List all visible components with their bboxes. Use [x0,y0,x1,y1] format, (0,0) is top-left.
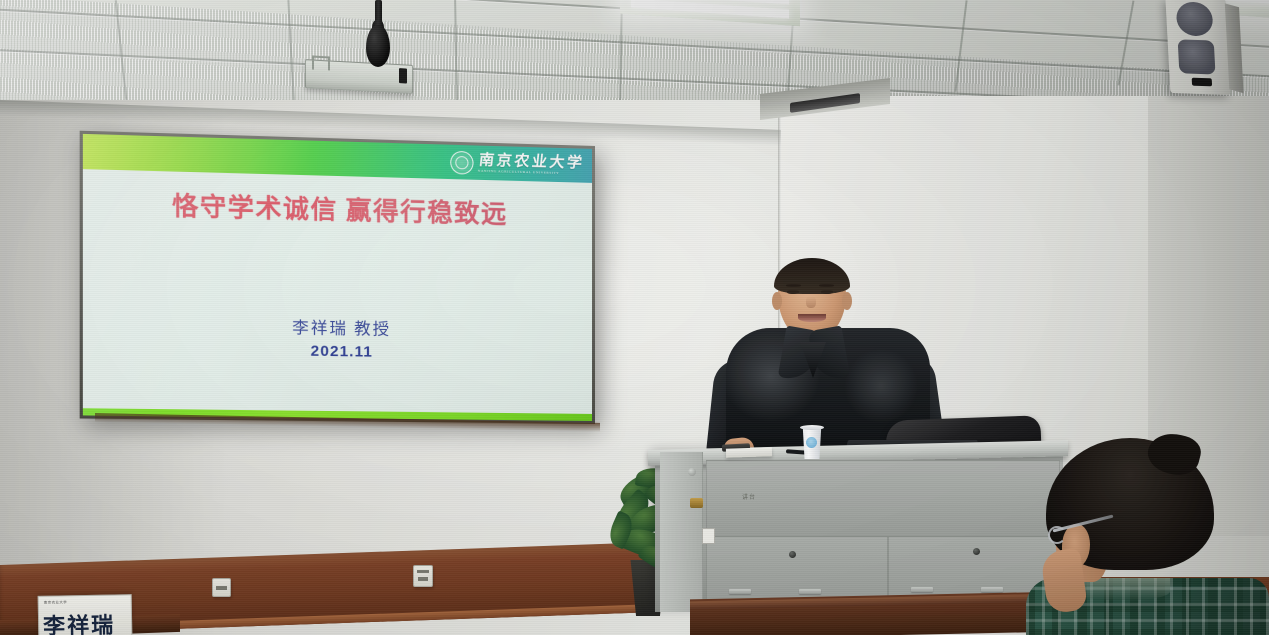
slide-presenter: 李祥瑞 教授 [83,310,592,343]
speaker-eye [787,290,799,294]
speaker-eyebrow [819,284,834,287]
outlet-slot [216,586,227,590]
lectern-latch [688,468,696,476]
wall-outlet-right [413,565,433,587]
speaker-cone-icon [1178,39,1216,74]
hanging-camera-sensor [366,25,390,67]
speaker-eye [821,290,833,294]
drawer-handle [799,589,821,594]
drawer-handle [981,587,1003,592]
speaker-ear [772,292,782,310]
speaker-eyebrow [786,284,801,287]
lectern-upper-panel [706,460,1060,537]
drawer-lock-icon [973,548,980,555]
lectern-asset-sticker [702,528,715,544]
slide-date: 2021.11 [83,339,592,364]
paper-cup-rim [800,425,824,430]
wall-outlet-left [212,578,231,597]
speaker-cone-icon [1176,1,1214,36]
speaker-nose [806,296,816,308]
papers-stack [726,447,772,458]
university-logo: 南京农业大学 NANJING AGRICULTURAL UNIVERSITY [450,151,584,178]
desk-nameplate: 南京农业大学 李祥瑞 [38,594,133,635]
outlet-slot [418,577,428,581]
outlet-slot [417,570,429,573]
university-seal-icon [450,151,473,175]
lectern-keyhole-icon [690,498,703,508]
slide-title: 恪守学术诚信 赢得行稳致远 [83,184,592,233]
photograph-scene: 南京农业大学 NANJING AGRICULTURAL UNIVERSITY 恪… [0,0,1269,635]
university-logo-name: 南京农业大学 NANJING AGRICULTURAL UNIVERSITY [478,153,585,175]
speaker-mouth-smiling [798,314,826,322]
projected-slide: 南京农业大学 NANJING AGRICULTURAL UNIVERSITY 恪… [83,134,592,421]
drawer-handle [911,587,933,592]
paper-cup-logo-icon [806,437,817,448]
lectern-left-column [660,452,703,612]
projection-screen: 南京农业大学 NANJING AGRICULTURAL UNIVERSITY 恪… [80,131,595,424]
audience-person [1008,438,1269,635]
wall-mounted-speaker [1165,0,1230,95]
lectern-brand-label: 讲台 [742,492,756,501]
drawer-lock-icon [789,551,796,558]
drawer-handle [729,589,751,594]
glasses-lens-icon [1048,526,1066,544]
nameplate-org-text: 南京农业大学 [44,600,67,605]
nameplate-name-text: 李祥瑞 [43,607,116,635]
speaker-hair [774,258,850,294]
projector-mount [312,56,330,71]
speaker-port [1192,78,1212,87]
projector-lens-icon [399,68,407,83]
ceiling-projector [305,59,413,94]
speaker-ear [842,292,852,310]
